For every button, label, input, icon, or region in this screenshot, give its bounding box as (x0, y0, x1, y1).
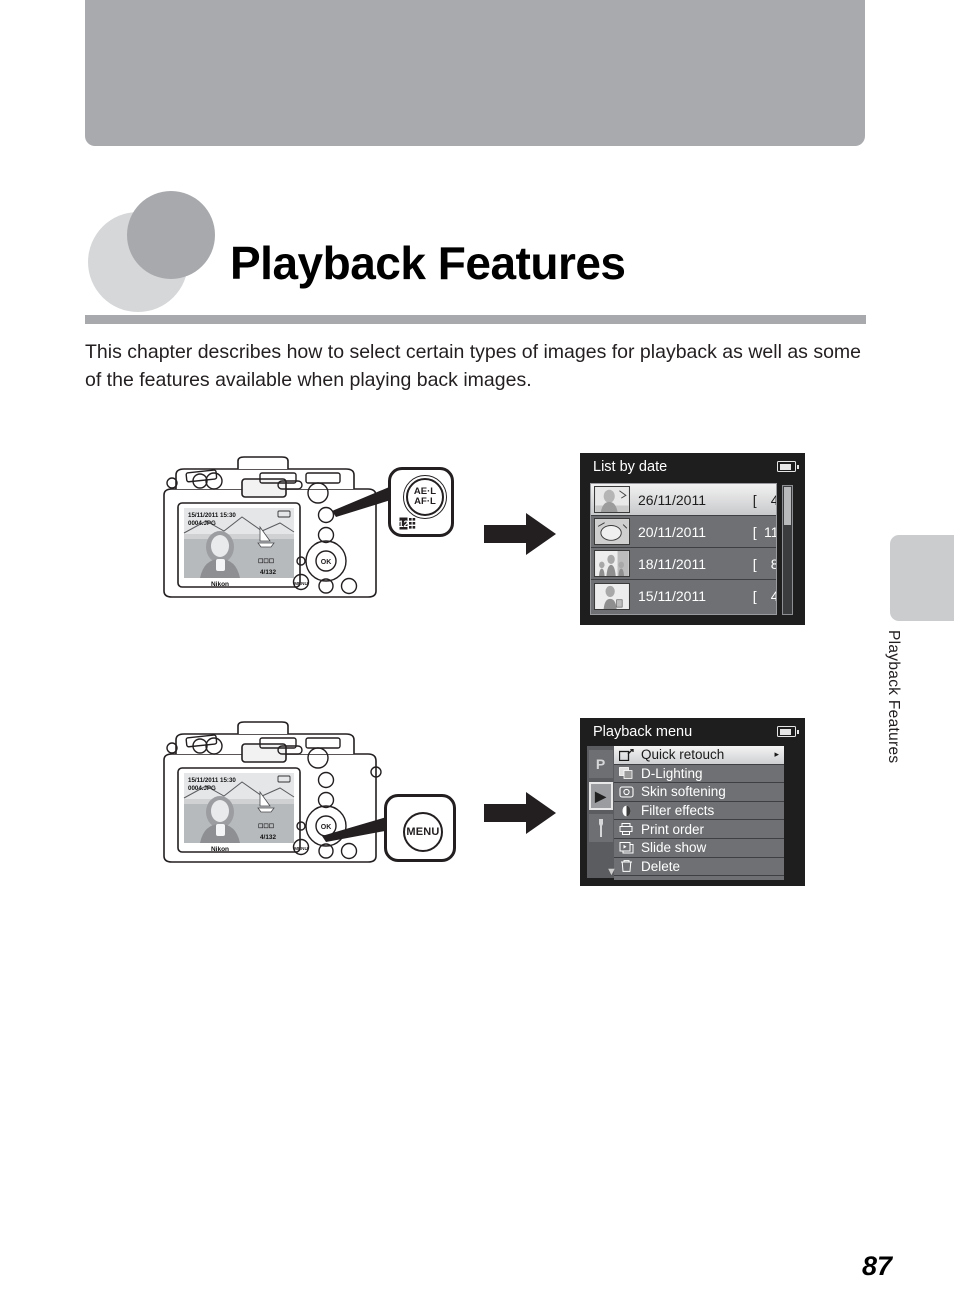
menu-item-label: Filter effects (641, 803, 779, 818)
skin-softening-icon (618, 785, 635, 799)
scroll-down-caret-icon[interactable]: ▼ (606, 866, 617, 878)
shooting-menu-tab-label: P (596, 756, 605, 772)
lcd-filename-text: 0004.JPG (188, 785, 216, 792)
menu-item-label: D-Lighting (641, 766, 779, 781)
section-thumb-tab-label: Playback Features (884, 630, 902, 830)
arrow-right-icon (484, 790, 556, 836)
lcd-filename-text: 0004.JPG (188, 520, 216, 527)
date-label: 20/11/2011 (630, 524, 706, 540)
menu-item-delete[interactable]: Delete (614, 858, 784, 877)
date-list: 26/11/2011 [4] 20/11/2011 (590, 483, 777, 615)
shooting-menu-tab[interactable]: P (589, 750, 613, 778)
section-thumb-tab (890, 535, 954, 621)
quick-retouch-icon (618, 748, 635, 762)
list-by-date-screen: List by date 26/11/2011 (580, 453, 805, 625)
list-item[interactable]: 15/11/2011 [4] (591, 580, 776, 612)
screen-title: List by date (593, 459, 667, 475)
decorative-circle-dark (127, 191, 215, 279)
date-thumbnail (594, 550, 630, 577)
ael-afl-button-callout: AE·L AF·L 12 (388, 467, 454, 537)
setup-menu-tab[interactable] (589, 814, 613, 842)
menu-button-callout: MENU (384, 794, 456, 862)
svg-text:☐☐☐: ☐☐☐ (258, 823, 274, 830)
date-thumbnail (594, 486, 630, 513)
menu-button-label: MENU (406, 826, 439, 838)
chapter-intro-text: This chapter describes how to select cer… (85, 338, 870, 394)
page-number: 87 (862, 1251, 892, 1282)
menu-item-filter-effects[interactable]: Filter effects (614, 802, 784, 821)
menu-item-print-order[interactable]: Print order (614, 820, 784, 839)
thumbnail-image (595, 551, 629, 576)
svg-text:MENU: MENU (294, 581, 308, 586)
menu-button[interactable]: MENU (403, 812, 443, 852)
menu-item-d-lighting[interactable]: D-Lighting (614, 765, 784, 784)
scrollbar-thumb[interactable] (784, 487, 791, 525)
camera-brand-text: Nikon (211, 581, 229, 588)
date-count: [4] (706, 572, 777, 615)
submenu-arrow-icon: ▸ (774, 749, 784, 760)
lcd-counter-text: 4/132 (260, 569, 276, 576)
playback-menu-screen: Playback menu P ▶ (580, 718, 805, 886)
camera-back-illustration: 15/11/2011 15:30 0004.JPG ☐☐☐ 4/132 Niko… (150, 455, 390, 605)
playback-menu-tab[interactable]: ▶ (589, 782, 613, 810)
menu-tab-column: P ▶ (587, 746, 614, 878)
screen-title: Playback menu (593, 724, 692, 740)
menu-item-label: Skin softening (641, 784, 779, 799)
filter-effects-icon (618, 804, 635, 818)
camera-brand-text: Nikon (211, 846, 229, 853)
menu-item-label: Delete (641, 859, 779, 874)
title-divider (85, 315, 866, 324)
camera-back-illustration: 15/11/2011 15:30 0004.JPG ☐☐☐ 4/132 Niko… (150, 720, 390, 870)
button-ring (403, 475, 447, 519)
svg-text:☐☐☐: ☐☐☐ (258, 558, 274, 565)
wrench-icon (595, 819, 607, 837)
date-label: 18/11/2011 (630, 556, 706, 572)
playback-menu-tab-label: ▶ (595, 788, 606, 805)
ael-afl-button[interactable]: AE·L AF·L (406, 478, 444, 516)
thumbnail-image (595, 519, 629, 544)
delete-trash-icon (618, 859, 635, 873)
menu-item-label: Slide show (641, 840, 779, 855)
thumbnail-image (595, 584, 629, 609)
svg-text:MENU: MENU (294, 846, 308, 851)
slide-show-icon (618, 841, 635, 855)
lcd-date-text: 15/11/2011 15:30 (188, 777, 236, 784)
date-thumbnail (594, 518, 630, 545)
date-label: 26/11/2011 (630, 492, 706, 508)
screen-titlebar: List by date (580, 453, 805, 480)
lcd-counter-text: 4/132 (260, 834, 276, 841)
svg-text:12: 12 (399, 519, 409, 529)
battery-icon (777, 461, 796, 472)
screen-titlebar: Playback menu (580, 718, 805, 745)
thumbnail-image (595, 487, 629, 512)
scrollbar-track[interactable] (782, 485, 793, 615)
arrow-right-icon (484, 511, 556, 557)
d-lighting-icon (618, 766, 635, 780)
menu-item-label: Print order (641, 822, 779, 837)
date-thumbnail (594, 583, 630, 610)
page-header-band (85, 0, 865, 146)
print-order-icon (618, 822, 635, 836)
manual-page: Playback Features This chapter describes… (0, 0, 954, 1314)
lcd-date-text: 15/11/2011 15:30 (188, 512, 236, 519)
menu-item-slide-show[interactable]: Slide show (614, 839, 784, 858)
svg-text:OK: OK (321, 559, 332, 566)
page-title: Playback Features (230, 236, 626, 290)
menu-item-label: Quick retouch (641, 747, 774, 762)
menu-item-skin-softening[interactable]: Skin softening (614, 783, 784, 802)
thumbnail-grid-12-icon: 12 (399, 517, 416, 530)
playback-menu-list: Quick retouch ▸ D-Lighting Skin softenin… (614, 746, 784, 880)
date-label: 15/11/2011 (630, 588, 706, 604)
menu-item-quick-retouch[interactable]: Quick retouch ▸ (614, 746, 784, 765)
battery-icon (777, 726, 796, 737)
